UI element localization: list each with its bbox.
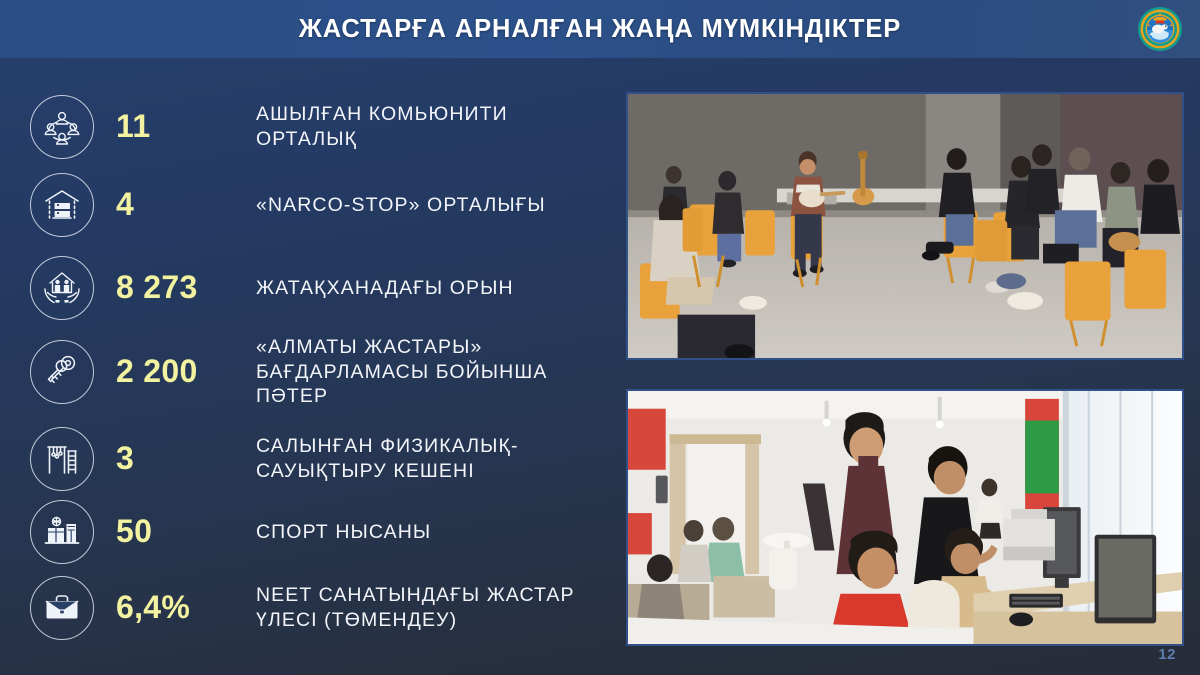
stat-row: 8 273 ЖАТАҚХАНАДАҒЫ ОРЫН <box>0 248 610 328</box>
stat-value: 2 200 <box>116 355 256 389</box>
stat-label: САЛЫНҒАН ФИЗИКАЛЫҚ-САУЫҚТЫРУ КЕШЕНІ <box>256 434 610 484</box>
sport-facility-icon <box>30 500 94 564</box>
stat-label: АШЫЛҒАН КОМЬЮНИТИ ОРТАЛЫҚ <box>256 102 610 152</box>
stat-row: 50 СПОРТ НЫСАНЫ <box>0 496 610 568</box>
slide-header: ЖАСТАРҒА АРНАЛҒАН ЖАҢА МҮМКІНДІКТЕР <box>0 0 1200 58</box>
briefcase-icon <box>30 576 94 640</box>
photo-community-center-music-circle <box>626 92 1184 360</box>
stat-value: 50 <box>116 515 256 549</box>
stat-row: 2 200 «АЛМАТЫ ЖАСТАРЫ» БАҒДАРЛАМАСЫ БОЙЫ… <box>0 328 610 416</box>
page-number: 12 <box>1158 646 1176 663</box>
stat-value: 3 <box>116 442 256 476</box>
stat-value: 6,4% <box>116 591 256 625</box>
keys-icon <box>30 340 94 404</box>
slide-root: ЖАСТАРҒА АРНАЛҒАН ЖАҢА МҮМКІНДІКТЕР <box>0 0 1200 675</box>
almaty-city-emblem <box>1137 6 1183 52</box>
rehab-center-building-icon <box>30 173 94 237</box>
page-title: ЖАСТАРҒА АРНАЛҒАН ЖАҢА МҮМКІНДІКТЕР <box>299 15 901 44</box>
stat-label: «NARCO-STOP» ОРТАЛЫҒЫ <box>256 193 610 218</box>
stat-label: «АЛМАТЫ ЖАСТАРЫ» БАҒДАРЛАМАСЫ БОЙЫНША ПӘ… <box>256 335 610 410</box>
hands-holding-house-icon <box>30 256 94 320</box>
stat-value: 8 273 <box>116 271 256 305</box>
stat-label: ЖАТАҚХАНАДАҒЫ ОРЫН <box>256 276 610 301</box>
stat-value: 4 <box>116 188 256 222</box>
stat-value: 11 <box>116 110 256 144</box>
photo-coworking-computers <box>626 389 1184 646</box>
playground-bars-icon <box>30 427 94 491</box>
community-people-icon <box>30 95 94 159</box>
stat-row: 6,4% NEET САНАТЫНДАҒЫ ЖАСТАР ҮЛЕСІ (ТӨМЕ… <box>0 568 610 648</box>
stats-list: 11 АШЫЛҒАН КОМЬЮНИТИ ОРТАЛЫҚ 4 «NARCO-ST… <box>0 62 610 662</box>
stat-row: 4 «NARCO-STOP» ОРТАЛЫҒЫ <box>0 166 610 244</box>
stat-row: 11 АШЫЛҒАН КОМЬЮНИТИ ОРТАЛЫҚ <box>0 88 610 166</box>
stat-row: 3 САЛЫНҒАН ФИЗИКАЛЫҚ-САУЫҚТЫРУ КЕШЕНІ <box>0 422 610 496</box>
stat-label: NEET САНАТЫНДАҒЫ ЖАСТАР ҮЛЕСІ (ТӨМЕНДЕУ) <box>256 583 610 633</box>
stat-label: СПОРТ НЫСАНЫ <box>256 520 610 545</box>
